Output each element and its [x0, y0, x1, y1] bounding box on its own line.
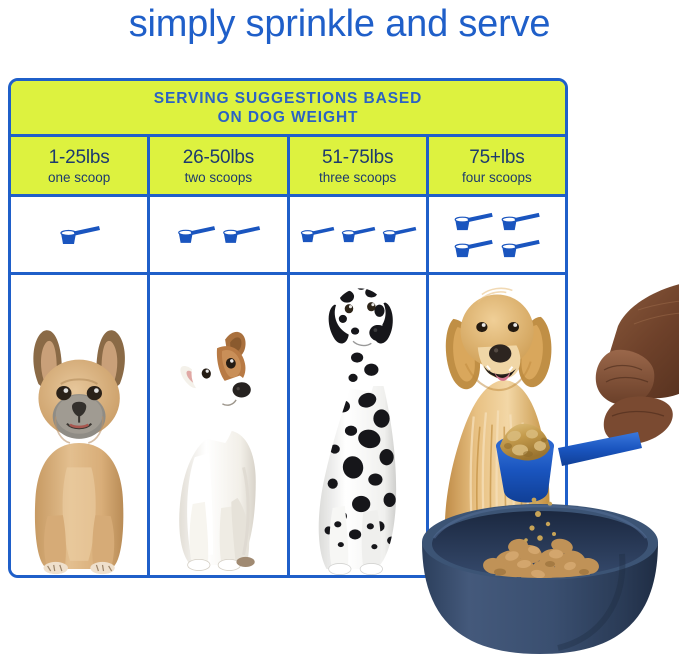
measuring-scoop-icon	[339, 223, 377, 246]
scoops-label-4: four scoops	[462, 169, 532, 186]
weight-cell-1: 1-25lbs one scoop	[11, 137, 150, 194]
measuring-scoop-icon	[380, 223, 418, 246]
weight-value-2: 26-50lbs	[183, 147, 254, 169]
dog-cell-jack-russell-terrier	[150, 275, 289, 575]
measuring-scoop-icon	[451, 236, 495, 261]
weight-cell-4: 75+lbs four scoops	[429, 137, 565, 194]
measuring-scoop-icon	[498, 209, 542, 234]
measuring-scoop-icon	[220, 222, 262, 247]
measuring-scoop-icon	[498, 236, 542, 261]
measuring-scoop-icon	[57, 222, 102, 248]
scoop-cell-2	[150, 197, 289, 272]
table-header: SERVING SUGGESTIONS BASED ON DOG WEIGHT	[11, 81, 565, 137]
weight-row: 1-25lbs one scoop 26-50lbs two scoops 51…	[11, 137, 565, 197]
scoop-cell-3	[290, 197, 429, 272]
table-header-line-1: SERVING SUGGESTIONS BASED	[154, 89, 423, 108]
weight-value-1: 1-25lbs	[49, 147, 110, 169]
scoops-label-2: two scoops	[185, 169, 253, 186]
measuring-scoop-icon	[451, 209, 495, 234]
measuring-scoop-icon	[175, 222, 217, 247]
weight-value-3: 51-75lbs	[322, 147, 393, 169]
table-header-line-2: ON DOG WEIGHT	[218, 108, 359, 127]
weight-cell-3: 51-75lbs three scoops	[290, 137, 429, 194]
jack-russell-terrier-photo	[150, 264, 286, 575]
blue-dog-bowl-with-kibble	[390, 498, 679, 650]
measuring-scoop-icon	[298, 223, 336, 246]
scoops-label-3: three scoops	[319, 169, 396, 186]
french-bulldog-photo	[11, 264, 147, 575]
scoop-cell-1	[11, 197, 150, 272]
page-title: simply sprinkle and serve	[0, 2, 679, 46]
scoops-label-1: one scoop	[48, 169, 110, 186]
weight-cell-2: 26-50lbs two scoops	[150, 137, 289, 194]
dog-cell-french-bulldog	[11, 275, 150, 575]
scoop-cell-4	[429, 197, 565, 272]
weight-value-4: 75+lbs	[469, 147, 524, 169]
